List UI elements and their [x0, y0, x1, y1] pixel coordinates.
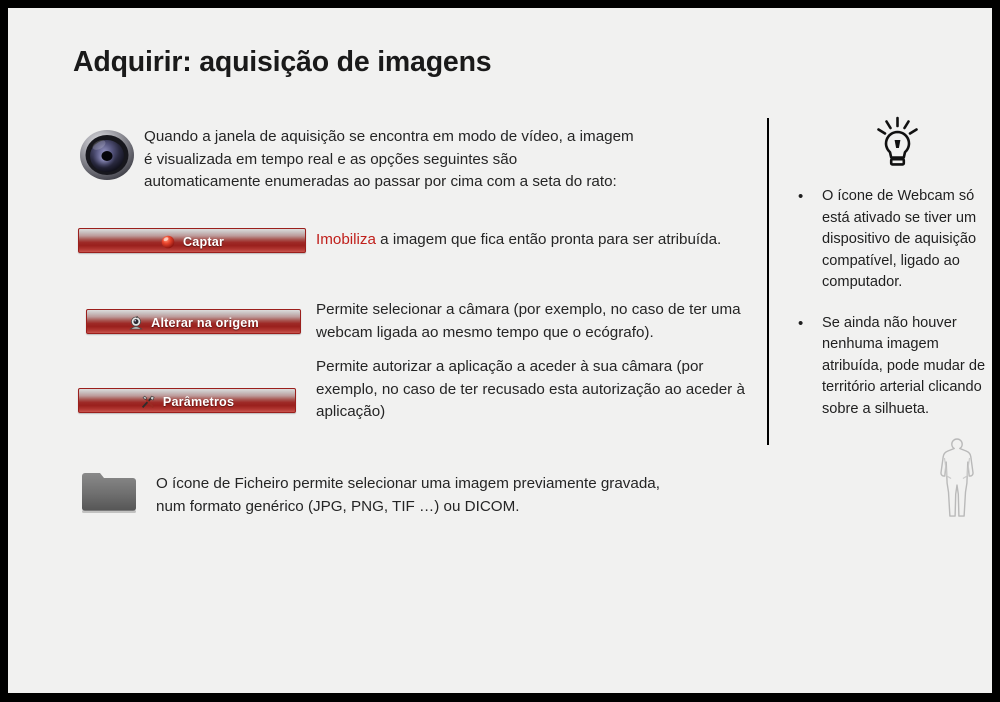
page-title: Adquirir: aquisição de imagens: [73, 46, 491, 79]
captar-description-rest: a imagem que fica então pronta para ser …: [376, 231, 721, 248]
folder-icon: [80, 470, 138, 517]
parametros-button[interactable]: Parâmetros: [78, 388, 296, 413]
intro-paragraph: Quando a janela de aquisição se encontra…: [144, 126, 634, 194]
red-sphere-icon: [160, 234, 176, 250]
tip-text: O ícone de Webcam só está ativado se tiv…: [822, 188, 976, 290]
slide-frame: Adquirir: aquisição de imagens: [8, 8, 992, 693]
tips-list: • O ícone de Webcam só está ativado se t…: [794, 186, 990, 439]
bullet-glyph: •: [798, 313, 803, 335]
captar-description: Imobiliza a imagem que fica então pronta…: [316, 229, 766, 252]
captar-button-label: Captar: [183, 235, 224, 249]
list-item: • Se ainda não houver nenhuma imagem atr…: [794, 313, 990, 421]
tip-text: Se ainda não houver nenhuma imagem atrib…: [822, 315, 985, 417]
vertical-divider: [767, 118, 769, 445]
webcam-icon: [128, 315, 144, 331]
human-body-silhouette-icon[interactable]: [926, 436, 988, 520]
captar-button[interactable]: Captar: [78, 228, 306, 253]
parametros-description: Permite autorizar a aplicação a aceder à…: [316, 356, 746, 424]
bullet-glyph: •: [798, 186, 803, 208]
alterar-na-origem-button-label: Alterar na origem: [151, 316, 259, 330]
list-item: • O ícone de Webcam só está ativado se t…: [794, 186, 990, 294]
tools-icon: [140, 394, 156, 410]
parametros-button-label: Parâmetros: [163, 395, 234, 409]
camera-lens-icon: [76, 125, 138, 183]
alterar-na-origem-description: Permite selecionar a câmara (por exemplo…: [316, 299, 751, 344]
captar-description-highlight: Imobiliza: [316, 231, 376, 248]
alterar-na-origem-button[interactable]: Alterar na origem: [86, 309, 301, 334]
file-section-text: O ícone de Ficheiro permite selecionar u…: [156, 473, 676, 518]
lightbulb-icon: [874, 116, 921, 174]
